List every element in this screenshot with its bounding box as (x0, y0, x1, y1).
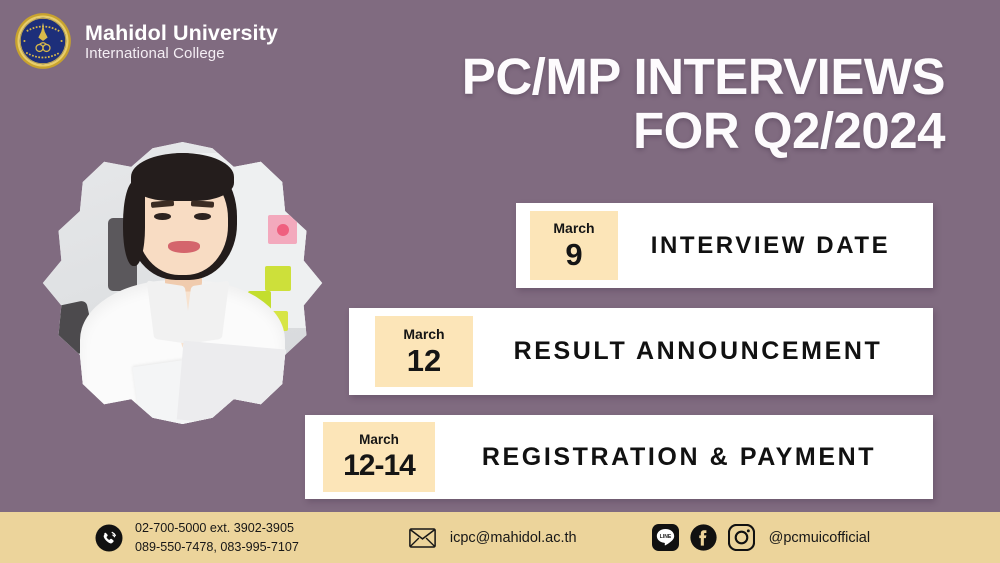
page-title: PC/MP INTERVIEWS FOR Q2/2024 (345, 50, 945, 158)
contact-social-group: LINE @pcmuicofficial (652, 524, 871, 551)
photo-paper-sheet (176, 341, 285, 424)
schedule-row-result-announcement: March 12 RESULT ANNOUNCEMENT (349, 308, 933, 395)
schedule-row-label: INTERVIEW DATE (618, 232, 933, 260)
phone-numbers: 02-700-5000 ext. 3902-3905 089-550-7478,… (135, 519, 299, 557)
brand-name: Mahidol University (85, 22, 278, 45)
facebook-icon[interactable] (690, 524, 717, 551)
photo-blob-frame (40, 142, 325, 424)
date-chip-month: March (359, 433, 399, 447)
date-chip: March 12-14 (323, 422, 435, 492)
student-portrait-photo (40, 142, 325, 424)
line-icon[interactable]: LINE (652, 524, 679, 551)
phone-icon (95, 524, 123, 552)
envelope-icon (409, 528, 436, 548)
date-chip: March 12 (375, 316, 473, 387)
phone-number-line2: 089-550-7478, 083-995-7107 (135, 538, 299, 557)
contact-email-group: icpc@mahidol.ac.th (409, 528, 577, 548)
instagram-icon[interactable] (728, 524, 755, 551)
schedule-row-registration-payment: March 12-14 REGISTRATION & PAYMENT (305, 415, 933, 499)
date-chip-day: 9 (565, 239, 582, 270)
phone-number-line1: 02-700-5000 ext. 3902-3905 (135, 519, 299, 538)
schedule-row-label: RESULT ANNOUNCEMENT (473, 337, 933, 366)
contact-phone-group: 02-700-5000 ext. 3902-3905 089-550-7478,… (95, 519, 299, 557)
page-title-line1: PC/MP INTERVIEWS (462, 48, 945, 105)
mahidol-university-seal-icon (14, 12, 72, 70)
schedule-row-interview-date: March 9 INTERVIEW DATE (516, 203, 933, 288)
brand-header: Mahidol University International College (14, 12, 278, 70)
date-chip: March 9 (530, 211, 618, 280)
email-address[interactable]: icpc@mahidol.ac.th (450, 530, 577, 546)
brand-subtitle: International College (85, 46, 278, 62)
page-title-line2: FOR Q2/2024 (345, 104, 945, 158)
date-chip-month: March (553, 221, 594, 235)
social-icon-list: LINE (652, 524, 755, 551)
photo-sticky-note (265, 266, 291, 291)
photo-person-eye (194, 213, 211, 220)
photo-person-mouth (168, 241, 199, 253)
date-chip-day: 12 (407, 345, 441, 376)
svg-text:LINE: LINE (659, 534, 671, 540)
photo-person-hair-side (123, 181, 146, 266)
date-chip-month: March (403, 327, 444, 341)
photo-person-eye (154, 213, 171, 220)
social-handle[interactable]: @pcmuicofficial (769, 530, 871, 546)
photo-person-hair-top (131, 153, 234, 201)
date-chip-day: 12-14 (343, 451, 415, 481)
brand-text: Mahidol University International College (85, 20, 278, 62)
contact-footer: 02-700-5000 ext. 3902-3905 089-550-7478,… (0, 512, 1000, 563)
schedule-row-label: REGISTRATION & PAYMENT (435, 443, 933, 472)
